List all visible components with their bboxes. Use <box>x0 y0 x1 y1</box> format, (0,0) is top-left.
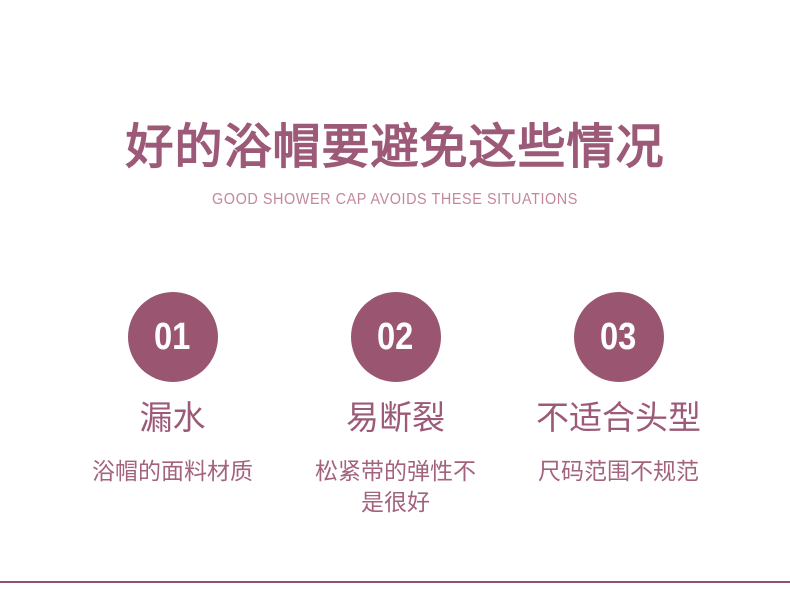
feature-item-02: 02 易断裂 松紧带的弹性不是很好 <box>284 292 507 518</box>
banner-header: 好的浴帽要避免这些情况 GOOD SHOWER CAP AVOIDS THESE… <box>0 120 790 209</box>
page-subtitle: GOOD SHOWER CAP AVOIDS THESE SITUATIONS <box>28 177 763 210</box>
feature-item-03: 03 不适合头型 尺码范围不规范 <box>507 292 730 487</box>
feature-columns: 01 漏水 浴帽的面料材质 02 易断裂 松紧带的弹性不是很好 03 不适合头型… <box>0 292 790 518</box>
number-badge-02: 02 <box>351 292 441 382</box>
number-badge-03: 03 <box>574 292 664 382</box>
promo-banner: 好的浴帽要避免这些情况 GOOD SHOWER CAP AVOIDS THESE… <box>0 0 790 589</box>
footer-divider <box>0 581 790 583</box>
feature-heading-01: 漏水 <box>140 382 206 437</box>
number-badge-01: 01 <box>128 292 218 382</box>
feature-item-01: 01 漏水 浴帽的面料材质 <box>61 292 284 487</box>
feature-heading-03: 不适合头型 <box>536 382 701 437</box>
badge-number-label: 03 <box>600 318 636 356</box>
feature-description-02: 松紧带的弹性不是很好 <box>306 437 486 518</box>
badge-number-label: 01 <box>154 318 190 356</box>
feature-description-01: 浴帽的面料材质 <box>92 437 253 487</box>
badge-number-label: 02 <box>377 318 413 356</box>
feature-heading-02: 易断裂 <box>346 382 445 437</box>
page-title: 好的浴帽要避免这些情况 <box>0 120 790 177</box>
feature-description-03: 尺码范围不规范 <box>538 437 699 487</box>
